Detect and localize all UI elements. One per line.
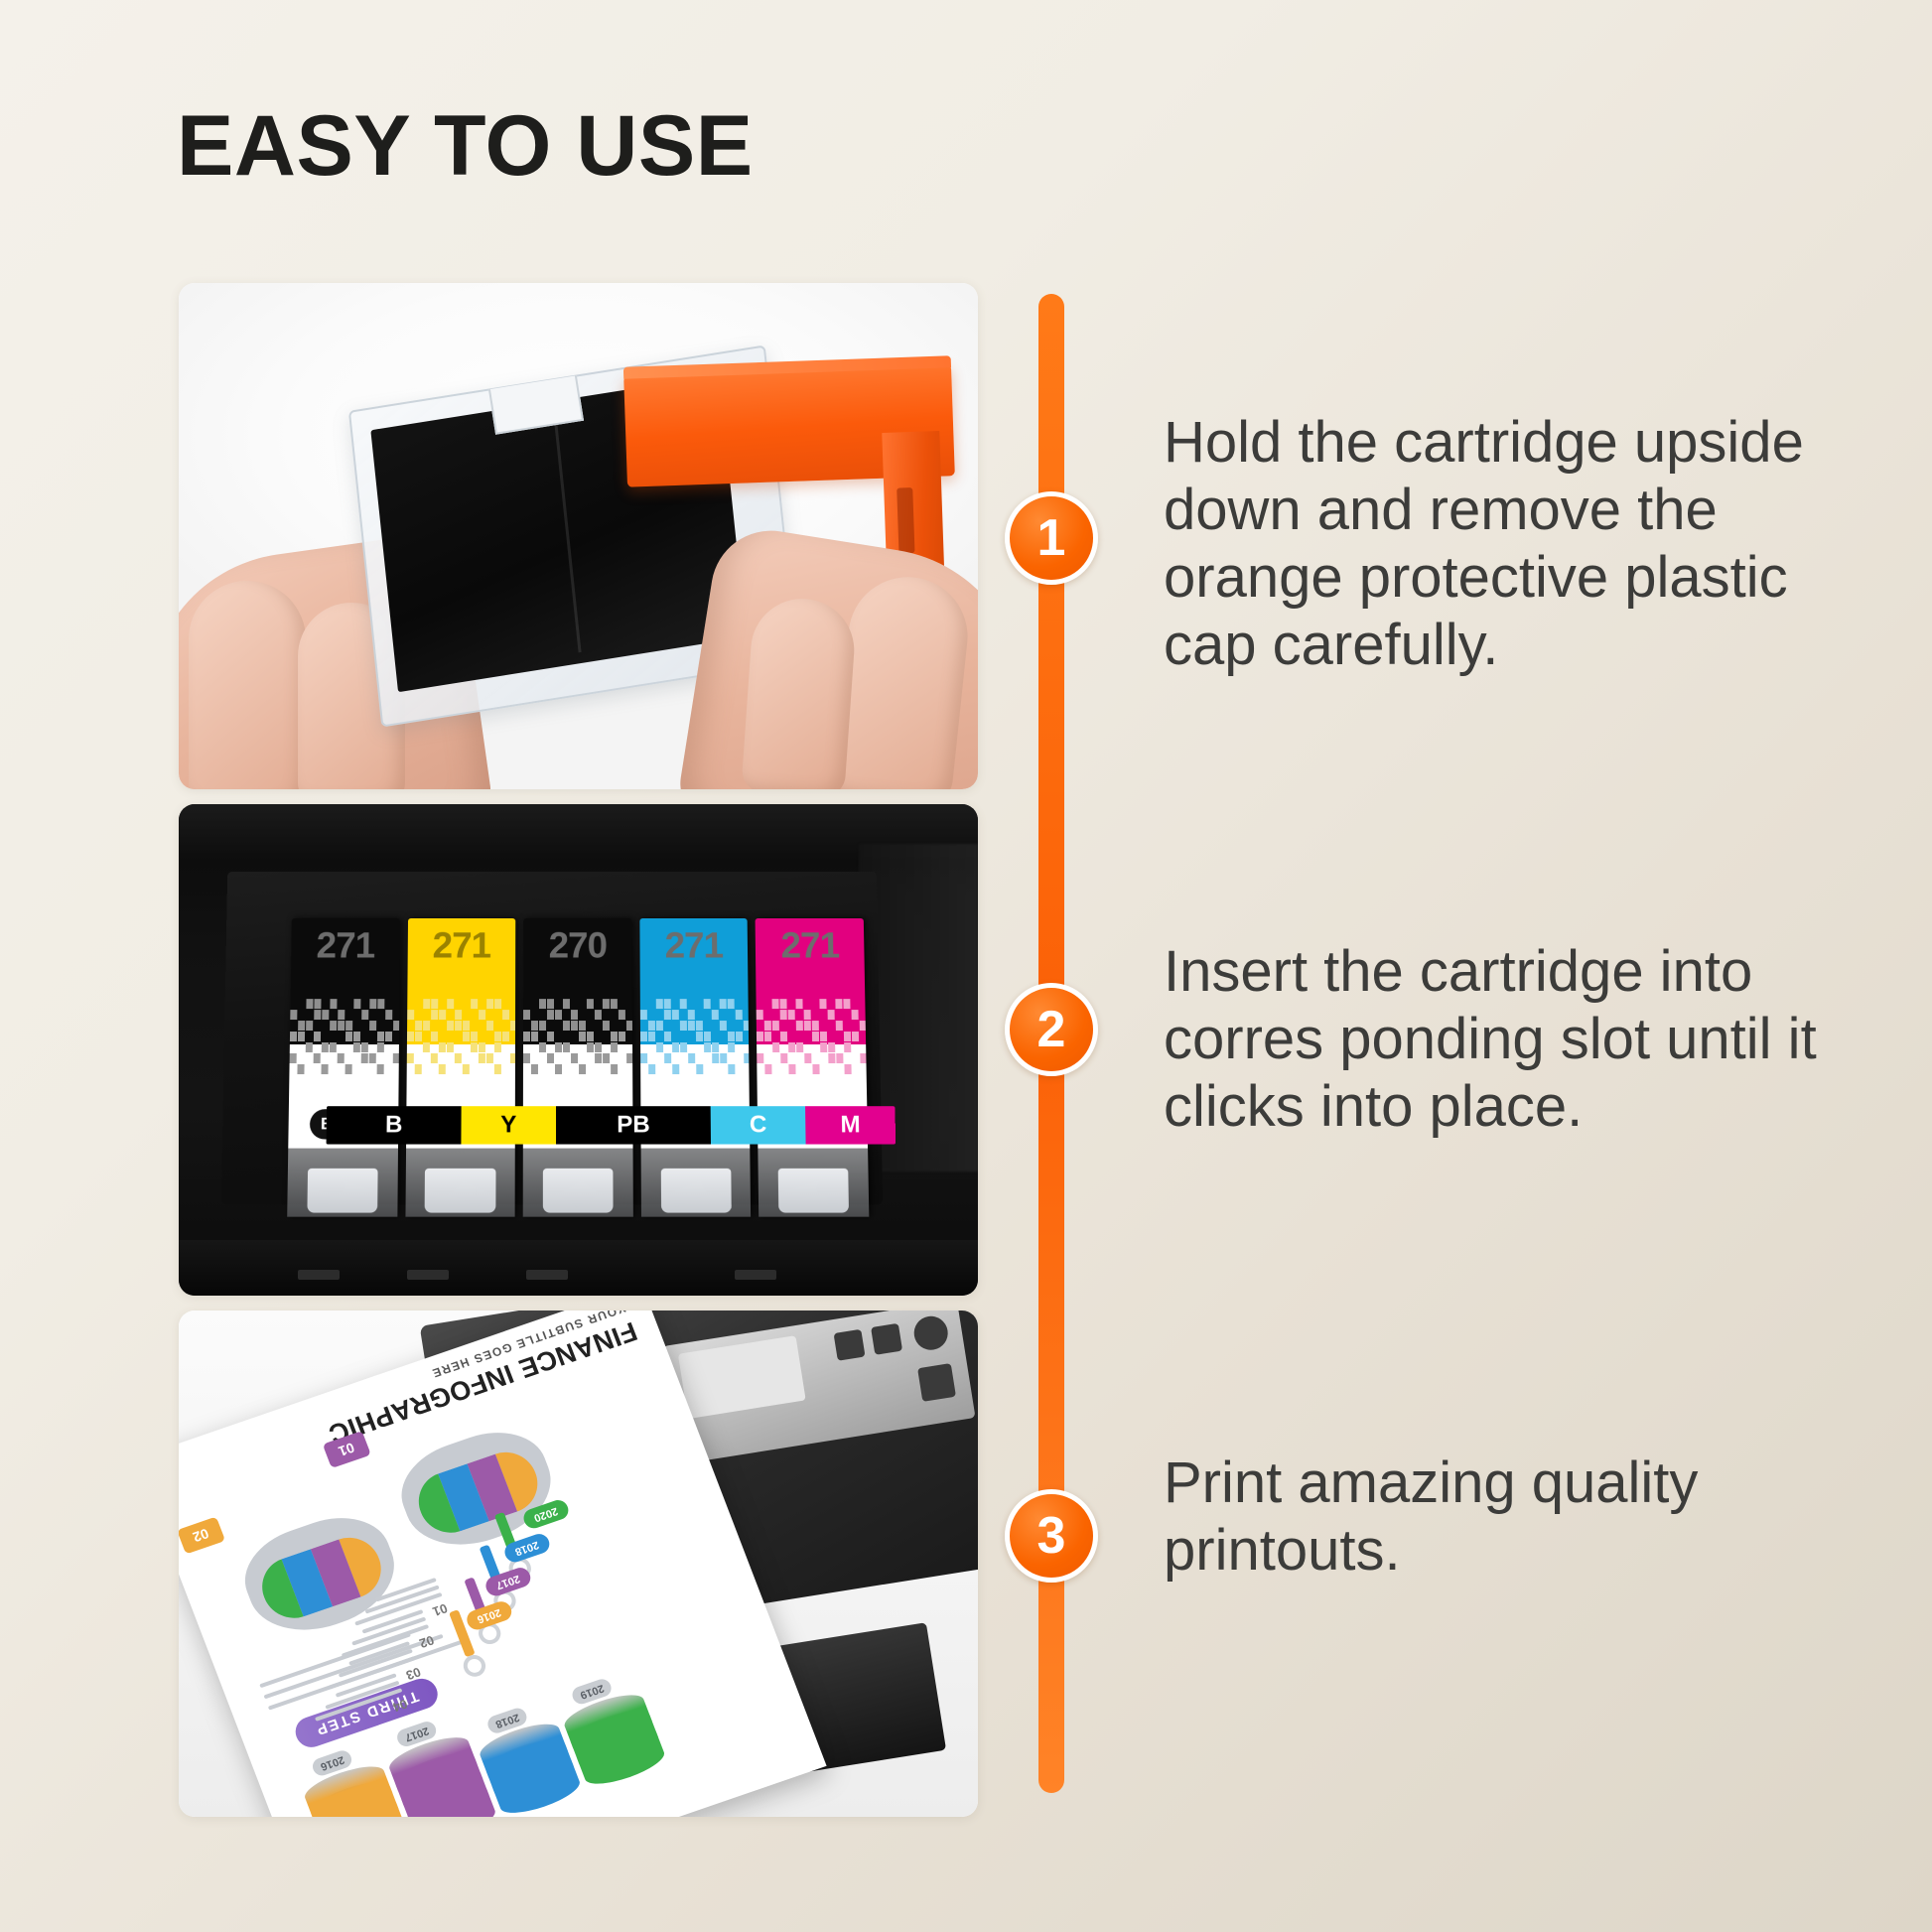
slot-color-strip: BYPBCM xyxy=(327,1106,897,1144)
cartridge-base xyxy=(759,1149,870,1217)
cartridge-model-number: 271 xyxy=(756,925,865,966)
cartridge-clip xyxy=(543,1169,614,1213)
cartridge-top-cap: 271 xyxy=(407,918,516,999)
power-button-icon xyxy=(911,1313,950,1352)
cartridge-base xyxy=(640,1149,751,1217)
cartridge-pixel-pattern xyxy=(523,999,632,1084)
cartridge-model-number: 271 xyxy=(639,925,748,966)
cartridge-top-cap: 271 xyxy=(639,918,749,999)
step-badge-3[interactable]: 3 xyxy=(1005,1489,1098,1583)
step-3-text: Print amazing quality printouts. xyxy=(1164,1449,1859,1585)
slot-label-y: Y xyxy=(461,1106,556,1144)
nav-button-icon xyxy=(871,1323,902,1355)
cartridge-model-number: 270 xyxy=(523,925,631,966)
slot-label-m: M xyxy=(805,1106,896,1144)
cartridge-model-number: 271 xyxy=(407,925,515,966)
cartridge-pixel-pattern xyxy=(640,999,750,1084)
cartridge-pixel-pattern xyxy=(406,999,515,1084)
cartridge-top-cap: 271 xyxy=(291,918,400,999)
step-2-photo: 271Black271Yellow270PGBK271Cyan271Magent… xyxy=(179,804,978,1296)
ink-cartridge-yellow: 271Yellow xyxy=(405,918,515,1217)
step-badge-2[interactable]: 2 xyxy=(1005,983,1098,1076)
cartridge-pixel-pattern xyxy=(757,999,867,1084)
cartridge-clip xyxy=(660,1169,731,1213)
ink-cartridge-pgbk: 270PGBK xyxy=(523,918,633,1217)
cartridge-clip xyxy=(425,1169,495,1213)
cartridge-base xyxy=(287,1149,397,1217)
cartridge-row: 271Black271Yellow270PGBK271Cyan271Magent… xyxy=(287,918,869,1217)
left-thumb xyxy=(189,581,306,789)
ink-cartridge-magenta: 271Magenta xyxy=(756,918,869,1217)
step-badge-1[interactable]: 1 xyxy=(1005,491,1098,585)
timeline-step-number: 01 xyxy=(431,1600,450,1619)
cartridge-base xyxy=(523,1149,633,1217)
timeline-dot xyxy=(461,1652,489,1680)
slot-label-pb: PB xyxy=(556,1106,711,1144)
step-1-photo xyxy=(179,283,978,789)
menu-button-icon xyxy=(834,1329,866,1361)
slot-label-c: C xyxy=(711,1106,806,1144)
printer-display-screen xyxy=(678,1335,806,1419)
tag-02: 02 xyxy=(179,1517,225,1555)
cartridge-base xyxy=(405,1149,515,1217)
cartridge-top-cap: 271 xyxy=(756,918,865,999)
printer-bottom-rail xyxy=(179,1240,978,1296)
step-2-text: Insert the cartridge into corres ponding… xyxy=(1164,938,1859,1141)
step-1-text: Hold the cartridge upside down and remov… xyxy=(1164,409,1859,678)
cartridge-clip xyxy=(778,1169,849,1213)
cartridge-pixel-pattern xyxy=(289,999,399,1084)
cartridge-clip xyxy=(307,1169,377,1213)
slot-label-b: B xyxy=(327,1106,462,1144)
cartridge-top-cap: 270 xyxy=(523,918,631,999)
ink-cartridge-black: 271Black xyxy=(287,918,399,1217)
cartridge-model-number: 271 xyxy=(291,925,400,966)
printer-carriage: 271Black271Yellow270PGBK271Cyan271Magent… xyxy=(221,872,884,1205)
home-button-icon xyxy=(917,1363,956,1402)
step-3-photo: FINANCE INFOGRAPHIC YOUR SUBTITLE GOES H… xyxy=(179,1311,978,1817)
right-index-finger xyxy=(741,596,858,789)
ink-cartridge-cyan: 271Cyan xyxy=(639,918,751,1217)
page-title: EASY TO USE xyxy=(177,97,754,196)
